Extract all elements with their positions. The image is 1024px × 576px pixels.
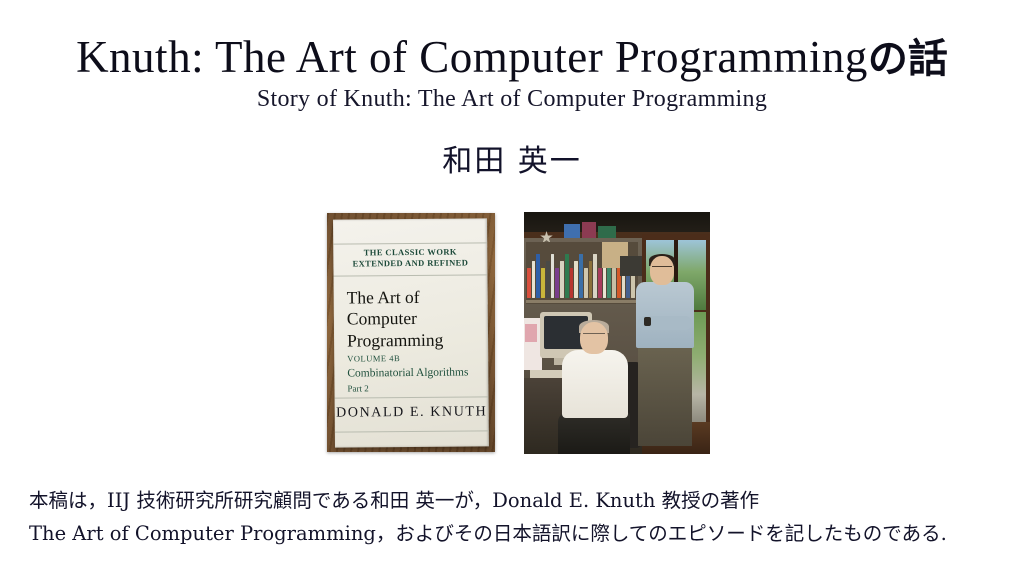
cover-volume-series: Combinatorial Algorithms: [347, 364, 468, 382]
cover-volume-number: VOLUME 4B: [347, 352, 468, 366]
photo-book-spine: [579, 254, 583, 298]
photo-book-spine: [589, 261, 593, 298]
cover-banner: THE CLASSIC WORK EXTENDED AND REFINED: [333, 246, 487, 270]
cover-title-line-1: The Art of: [347, 287, 443, 309]
photo-poster-green: [598, 226, 616, 238]
photo-seated-person-tshirt: [562, 350, 628, 418]
photo-book-spine: [584, 268, 588, 298]
cover-title-line-2: Computer: [347, 308, 443, 330]
cover-author: DONALD E. KNUTH: [335, 404, 489, 421]
photo-book-spine: [598, 268, 602, 298]
cover-rule-above-author: [335, 396, 489, 398]
caption-line-2: The Art of Computer Programming，およびその日本語…: [29, 517, 1019, 550]
book-cover-photo: THE CLASSIC WORK EXTENDED AND REFINED Th…: [327, 213, 495, 452]
office-photograph: [524, 212, 710, 454]
cover-rule-top: [333, 242, 487, 244]
photo-printer: [620, 256, 642, 276]
page-title: Knuth: The Art of Computer Programmingの話: [0, 34, 1024, 81]
photo-seated-person-glasses-icon: [583, 333, 605, 339]
photo-book-spine: [612, 268, 616, 298]
photo-book-spine: [565, 254, 569, 298]
photo-paper-tab: [525, 324, 537, 342]
cover-title-line-3: Programming: [347, 329, 443, 351]
photo-standing-person-shirt: [636, 282, 694, 348]
page-title-english: Knuth: The Art of Computer Programming: [76, 32, 868, 82]
photo-book-spine: [574, 261, 578, 298]
photo-book-spine: [541, 268, 545, 298]
photo-standing-person-watch: [644, 317, 651, 326]
author-name: 和田 英一: [0, 136, 1024, 180]
photo-book-spine: [560, 261, 564, 298]
photo-book-spine: [532, 261, 536, 298]
book-cover: THE CLASSIC WORK EXTENDED AND REFINED Th…: [333, 218, 489, 447]
caption-line-1: 本稿は，IIJ 技術研究所研究顧問である和田 英一が，Donald E. Knu…: [29, 484, 1019, 517]
page-title-japanese: の話: [868, 36, 948, 82]
cover-title: The Art of Computer Programming: [347, 287, 444, 352]
photo-book-spine: [570, 268, 574, 298]
cover-banner-line-2: EXTENDED AND REFINED: [333, 258, 487, 271]
photo-seated-person-legs: [558, 412, 630, 454]
caption-block: 本稿は，IIJ 技術研究所研究顧問である和田 英一が，Donald E. Knu…: [29, 484, 1019, 550]
cover-volume-block: VOLUME 4B Combinatorial Algorithms Part …: [347, 352, 468, 397]
photo-book-spine: [555, 268, 559, 298]
photo-book-spine: [551, 254, 555, 298]
photo-shelf-edge: [526, 300, 638, 303]
figure-row: THE CLASSIC WORK EXTENDED AND REFINED Th…: [0, 212, 1024, 457]
photo-book-spine: [536, 254, 540, 298]
photo-book-spine: [593, 254, 597, 298]
page-subtitle: Story of Knuth: The Art of Computer Prog…: [0, 86, 1024, 113]
photo-book-spine: [527, 268, 531, 298]
photo-standing-person-trousers: [638, 346, 692, 446]
photo-book-spine: [546, 261, 550, 298]
photo-standing-person-glasses-icon: [652, 266, 672, 272]
photo-poster-blue: [564, 224, 580, 238]
photo-poster-red: [582, 222, 596, 238]
cover-volume-part: Part 2: [347, 382, 468, 397]
cover-rule-under-banner: [333, 274, 487, 276]
cover-rule-bottom: [335, 430, 489, 432]
